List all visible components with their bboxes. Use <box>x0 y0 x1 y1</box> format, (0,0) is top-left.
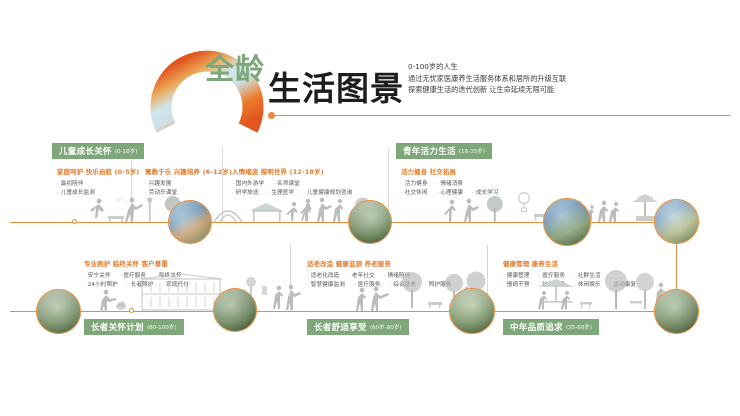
category-title: 寓教于乐 兴趣培养 (6-12岁) <box>145 167 232 176</box>
subtitle-line-3: 探索健康生活的迭代创新 让生命延续无限可能 <box>408 84 566 96</box>
category-children-2: 入情绪波 探明世界 (12-18岁) 国内外游学 名师课堂 研学旅途 生理医学 … <box>232 167 352 196</box>
stage-badge-youth-age: (18-35岁) <box>459 147 485 155</box>
category-children-1: 寓教于乐 兴趣培养 (6-12岁) 兴趣发展 劳动乐课堂 <box>145 167 232 196</box>
stage-badge-youth[interactable]: 青年活力生活 (18-35岁) <box>396 143 492 159</box>
photo-overlay <box>169 201 211 243</box>
photo-node-youth-couple[interactable] <box>654 199 699 244</box>
scenery-midlife-cafe <box>534 272 596 312</box>
stage-badge-children-label: 儿童成长关怀 <box>59 145 112 157</box>
category-title: 健康管理 康养生活 <box>503 259 636 268</box>
category-item: 最初陪伴 <box>57 179 140 187</box>
stage-badge-elder-care[interactable]: 长者关怀计划 (80-100岁) <box>84 319 184 335</box>
category-title: 专业照护 临终关怀 客户尊重 <box>84 259 189 268</box>
category-item: 儿童成长监测 <box>57 188 140 196</box>
photo-overlay <box>349 201 391 243</box>
category-title: 家庭呵护 快乐启航 (0-5岁) <box>57 167 140 176</box>
subtitle-line-1: 0-100岁的人生 <box>408 61 566 73</box>
page-title-accent: 全龄 <box>205 46 265 88</box>
stage-badge-youth-label: 青年活力生活 <box>403 145 456 157</box>
stage-badge-elder-care-label: 长者关怀计划 <box>91 321 144 333</box>
category-item: 健康管理 <box>503 271 530 279</box>
stage-badge-children-age: (0-18岁) <box>115 147 138 155</box>
scenery-youth-left <box>438 190 550 223</box>
stage-badge-midlife-label: 中年品质追求 <box>510 321 563 333</box>
scenery-elder-comfort-people <box>352 281 394 312</box>
scenery-elder-care-people <box>95 281 141 312</box>
category-item: 研学旅途 <box>232 188 259 196</box>
category-item: 慢病干预 <box>503 280 530 288</box>
photo-node-youth-activity[interactable] <box>543 198 591 246</box>
page-title: 生活图景 <box>268 62 404 110</box>
stage-badge-elder-comfort-age: (60岁-80岁) <box>370 323 402 331</box>
category-children-0: 家庭呵护 快乐启航 (0-5岁) 最初陪伴 儿童成长监测 <box>57 167 140 196</box>
category-item: 名师课堂 <box>273 179 300 187</box>
photo-overlay <box>655 290 698 333</box>
category-item: 安宁关怀 <box>84 271 111 279</box>
photo-node-children-study[interactable] <box>348 200 392 244</box>
category-item: 儿童健康规划咨询 <box>303 188 352 196</box>
subtitle-line-2: 通过无忧家医康养生活服务体系和居所的升级互联 <box>408 73 566 85</box>
category-item: 生理医学 <box>268 188 295 196</box>
stage-badge-midlife[interactable]: 中年品质追求 (35-60岁) <box>503 319 599 335</box>
category-title: 活力健身 社交拓展 <box>401 167 499 176</box>
photo-node-elder-couple-bottom[interactable] <box>654 289 699 334</box>
category-item: 兴趣发展 <box>145 179 232 187</box>
photo-overlay <box>655 200 698 243</box>
category-item: 活力健身 <box>401 179 428 187</box>
category-item: 智慧健康监测 <box>307 280 345 288</box>
photo-node-elder-walk[interactable] <box>36 289 81 334</box>
category-title: 适老改造 健康监测 养老服务 <box>307 259 452 268</box>
header: 全龄 生活图景 0-100岁的人生 通过无忧家医康养生活服务体系和居所的升级互联… <box>0 0 740 140</box>
category-title: 入情绪波 探明世界 (12-18岁) <box>232 167 352 176</box>
stage-badge-midlife-age: (35-60岁) <box>566 323 592 331</box>
category-item: 情绪消费 <box>437 179 464 187</box>
timeline-dot-top <box>72 219 77 224</box>
category-item: 适老化改造 <box>307 271 339 279</box>
category-item: 国内外游学 <box>232 179 264 187</box>
header-rule-dot <box>268 112 275 119</box>
category-item: 社交休闲 <box>401 188 428 196</box>
infographic-page: 全龄 生活图景 0-100岁的人生 通过无忧家医康养生活服务体系和居所的升级互联… <box>0 0 740 416</box>
header-subtitle: 0-100岁的人生 通过无忧家医康养生活服务体系和居所的升级互联 探索健康生活的… <box>408 61 566 96</box>
photo-node-children-sports[interactable] <box>168 200 212 244</box>
header-divider <box>275 115 730 116</box>
photo-node-elder-garden[interactable] <box>213 288 257 332</box>
stage-badge-elder-comfort-label: 长者舒适享受 <box>314 321 367 333</box>
stage-badge-elder-care-age: (80-100岁) <box>147 323 177 331</box>
category-item: 劳动乐课堂 <box>145 188 232 196</box>
photo-overlay <box>544 199 590 245</box>
photo-overlay <box>214 289 256 331</box>
category-item: 老年社交 <box>348 271 375 279</box>
photo-overlay <box>37 290 80 333</box>
photo-overlay <box>450 289 494 333</box>
stage-badge-children[interactable]: 儿童成长关怀 (0-18岁) <box>52 143 144 159</box>
photo-node-midlife-park[interactable] <box>449 288 495 334</box>
stage-badge-elder-comfort[interactable]: 长者舒适享受 (60岁-80岁) <box>307 319 409 335</box>
